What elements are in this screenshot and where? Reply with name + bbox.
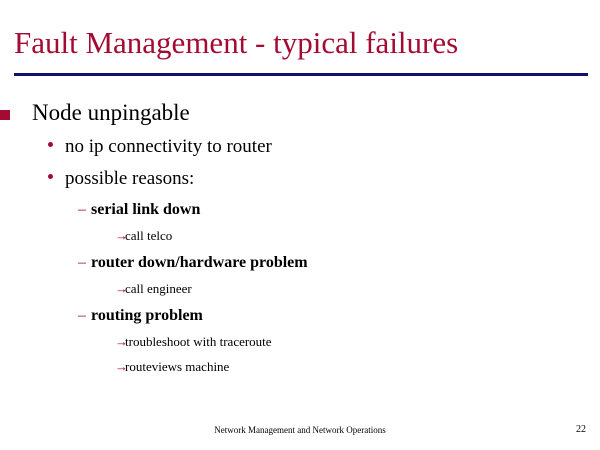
bullet-level4-call-telco: → call telco bbox=[0, 226, 600, 246]
bullet-level4-troubleshoot-traceroute: → troubleshoot with traceroute bbox=[0, 332, 600, 352]
dash-bullet-icon: – bbox=[78, 304, 86, 327]
bullet-level2-possible-reasons: possible reasons: bbox=[0, 166, 600, 191]
arrow-right-icon: → bbox=[115, 357, 128, 377]
bullet-text: call engineer bbox=[125, 281, 192, 296]
bullet-level3-routing-problem: – routing problem bbox=[0, 304, 600, 327]
page-number: 22 bbox=[576, 424, 586, 436]
round-bullet-icon bbox=[48, 174, 53, 179]
bullet-text: routeviews machine bbox=[125, 359, 229, 374]
bullet-text: serial link down bbox=[91, 201, 200, 218]
title-divider bbox=[14, 73, 588, 76]
bullet-level3-router-down: – router down/hardware problem bbox=[0, 251, 600, 274]
bullet-text: possible reasons: bbox=[65, 168, 194, 189]
dash-bullet-icon: – bbox=[78, 198, 86, 221]
arrow-right-icon: → bbox=[115, 226, 128, 246]
bullet-text: Node unpingable bbox=[32, 100, 190, 125]
bullet-text: no ip connectivity to router bbox=[65, 136, 272, 157]
bullet-text: routing problem bbox=[91, 307, 203, 324]
bullet-text: router down/hardware problem bbox=[91, 254, 308, 271]
dash-bullet-icon: – bbox=[78, 251, 86, 274]
page-title: Fault Management - typical failures bbox=[14, 24, 588, 62]
bullet-level4-routeviews-machine: → routeviews machine bbox=[0, 357, 600, 377]
bullet-text: troubleshoot with traceroute bbox=[125, 334, 272, 349]
arrow-right-icon: → bbox=[115, 332, 128, 352]
title-block: Fault Management - typical failures bbox=[14, 24, 588, 62]
arrow-right-icon: → bbox=[115, 279, 128, 299]
bullet-level4-call-engineer: → call engineer bbox=[0, 279, 600, 299]
slide-footer: Network Management and Network Operation… bbox=[0, 424, 600, 436]
bullet-text: call telco bbox=[125, 228, 172, 243]
content-outline: Node unpingable no ip connectivity to ro… bbox=[0, 100, 600, 382]
square-bullet-icon bbox=[0, 110, 10, 120]
round-bullet-icon bbox=[48, 142, 53, 147]
bullet-level1-node-unpingable: Node unpingable bbox=[0, 100, 600, 126]
bullet-level2-no-ip-connectivity: no ip connectivity to router bbox=[0, 134, 600, 159]
slide: Fault Management - typical failures Node… bbox=[0, 0, 600, 450]
bullet-level3-serial-link-down: – serial link down bbox=[0, 198, 600, 221]
